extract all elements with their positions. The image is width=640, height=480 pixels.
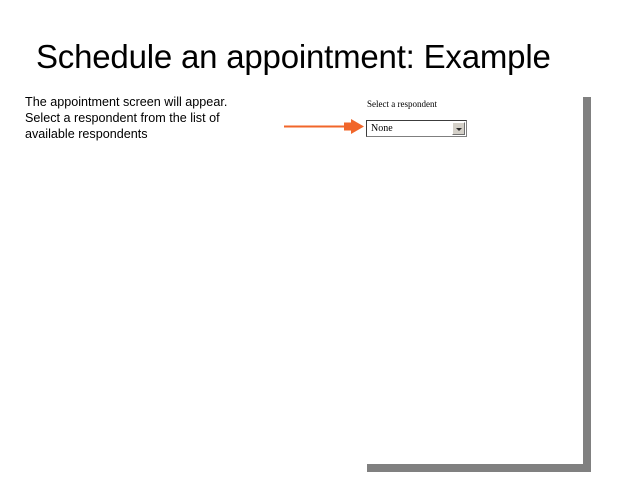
instruction-text: The appointment screen will appear. Sele… [25,94,253,142]
respondent-select-value: None [371,123,393,135]
chevron-down-icon[interactable] [452,122,465,135]
screenshot-shadow-bottom-edge [367,464,591,472]
slide-canvas: Schedule an appointment: Example The app… [0,0,640,480]
respondent-select-label: Select a respondent [367,99,467,110]
right-arrow-icon [284,116,366,138]
respondent-select[interactable]: None [366,120,467,137]
page-title: Schedule an appointment: Example [36,38,616,76]
respondent-dropdown-group: Select a respondent None [366,99,467,137]
screenshot-shadow-right-edge [583,97,591,472]
